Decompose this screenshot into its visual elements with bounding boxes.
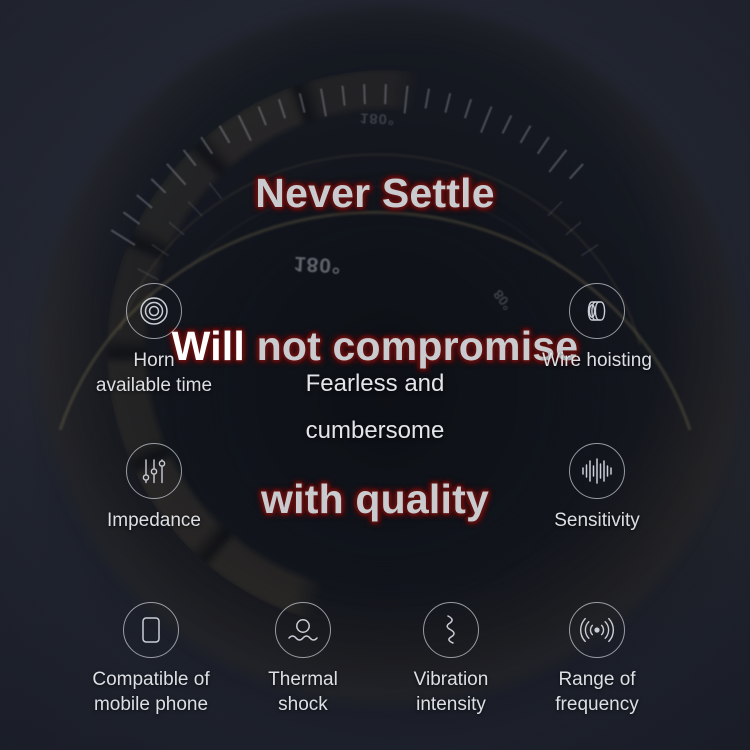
center-caption: Fearless and cumbersome <box>306 360 445 454</box>
mobile-phone-icon <box>123 602 179 658</box>
wireless-signal-icon <box>569 602 625 658</box>
feature-thermal-shock[interactable]: Thermal shock <box>230 602 376 717</box>
wire-coil-icon <box>569 283 625 339</box>
feature-label: Horn available time <box>54 348 254 398</box>
feature-sensitivity[interactable]: Sensitivity <box>497 443 697 533</box>
headline-line-1: Never Settle <box>0 168 750 219</box>
concentric-circles-icon <box>126 283 182 339</box>
feature-label: Sensitivity <box>497 508 697 533</box>
feature-label: Impedance <box>54 508 254 533</box>
feature-label: Compatible of mobile phone <box>56 667 246 717</box>
waveform-bars-icon <box>569 443 625 499</box>
feature-label: Wire hoisting <box>497 348 697 373</box>
feature-label: Thermal shock <box>230 667 376 717</box>
feature-range-of-frequency[interactable]: Range of frequency <box>522 602 672 717</box>
content-layer: Never Settle Will not compromise with qu… <box>0 0 750 750</box>
feature-wire-hoisting[interactable]: Wire hoisting <box>497 283 697 373</box>
feature-horn-available-time[interactable]: Horn available time <box>54 283 254 398</box>
equalizer-sliders-icon <box>126 443 182 499</box>
feature-impedance[interactable]: Impedance <box>54 443 254 533</box>
feature-label: Range of frequency <box>522 667 672 717</box>
sun-over-wave-icon <box>275 602 331 658</box>
zigzag-line-icon <box>423 602 479 658</box>
feature-mobile-phone-compatibility[interactable]: Compatible of mobile phone <box>56 602 246 717</box>
feature-vibration-intensity[interactable]: Vibration intensity <box>378 602 524 717</box>
feature-label: Vibration intensity <box>378 667 524 717</box>
